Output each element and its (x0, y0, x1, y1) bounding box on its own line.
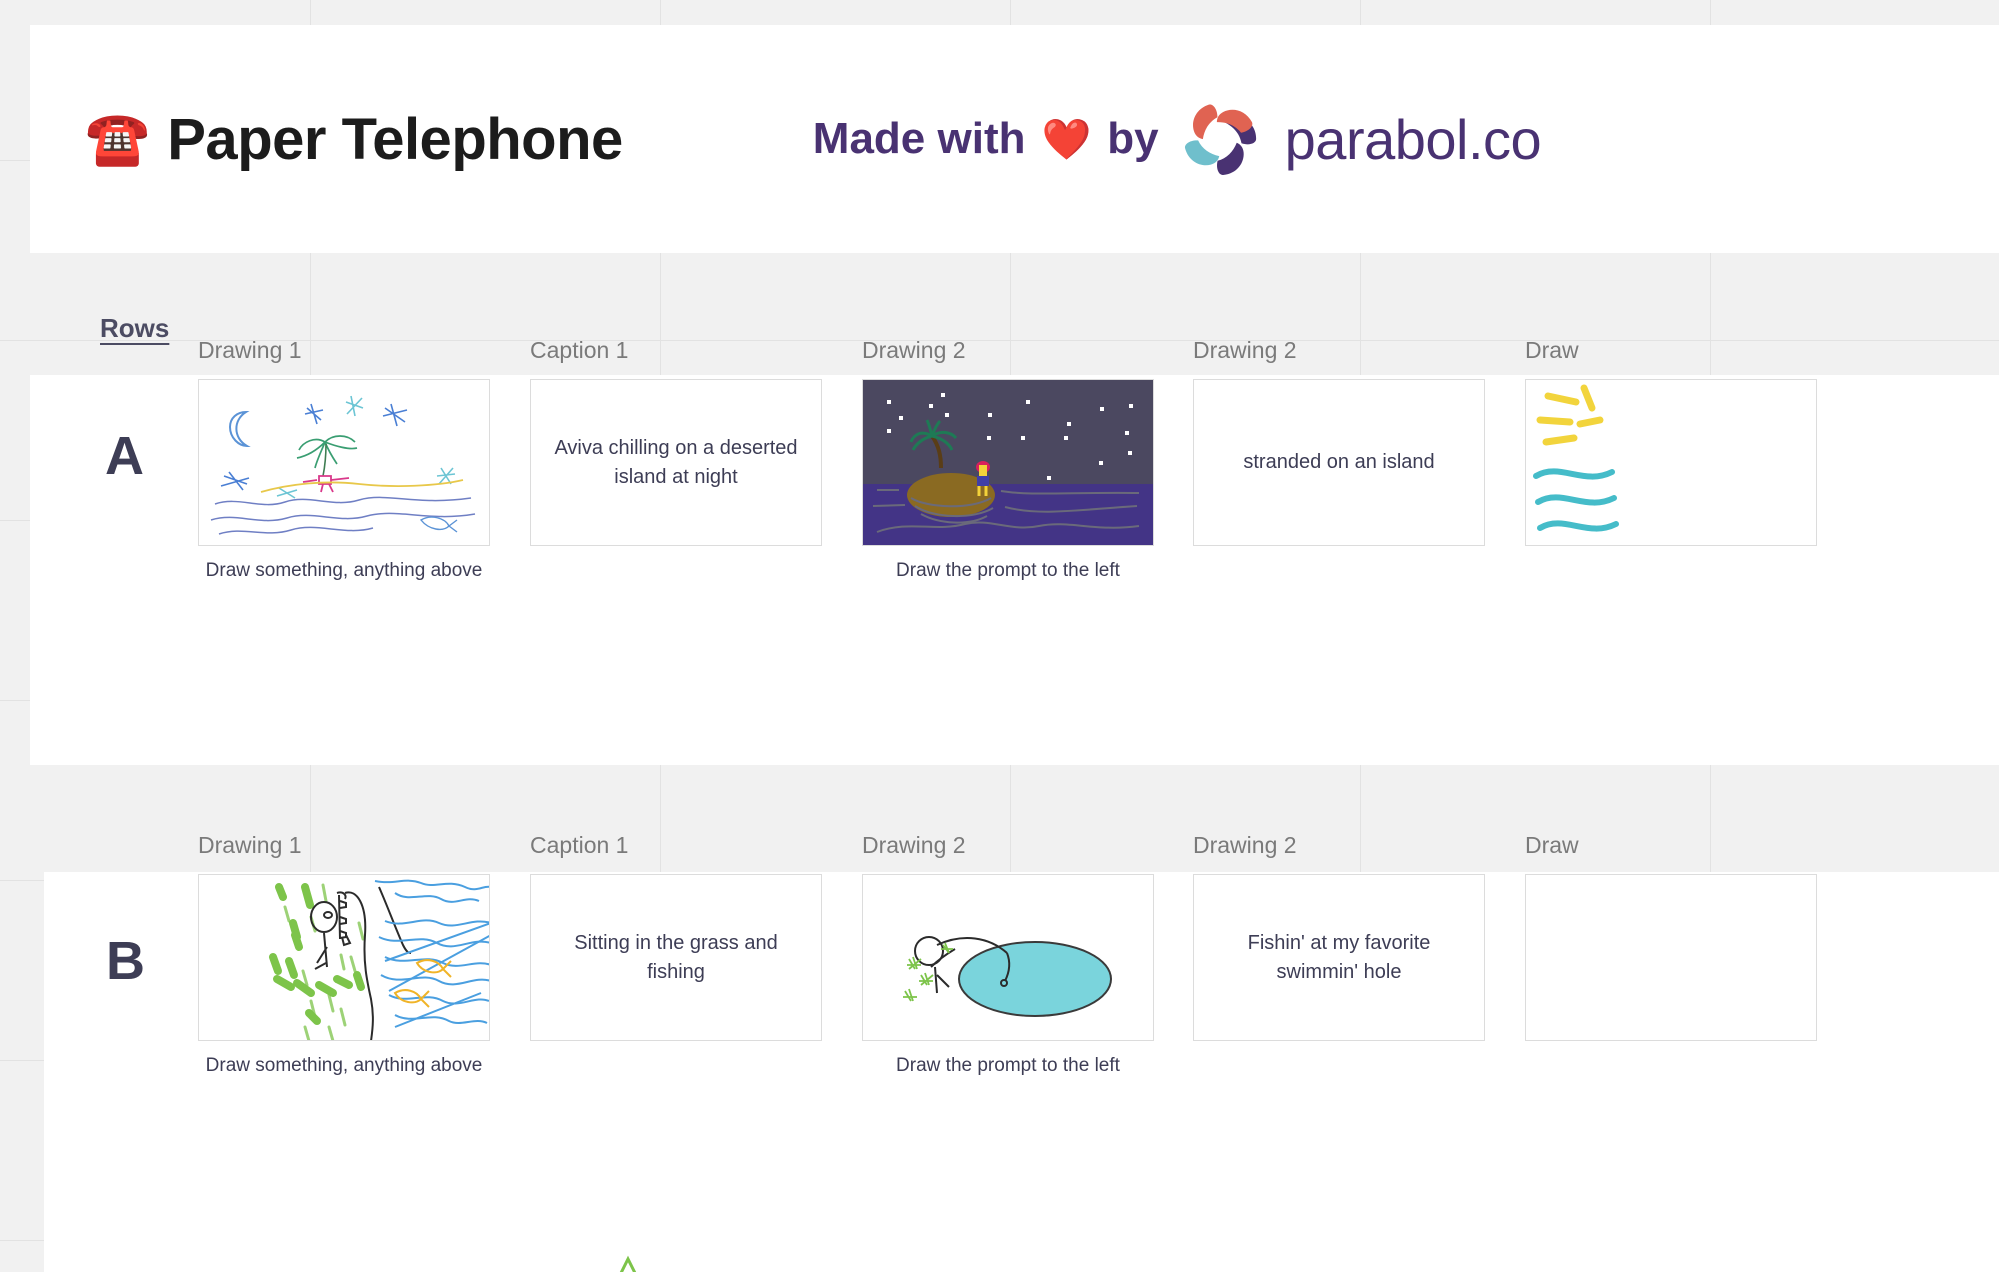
column-header-drawing1: Drawing 1 (198, 832, 490, 859)
caption-text: Aviva chilling on a deserted island at n… (549, 434, 803, 492)
cell-drawing2a-b[interactable]: Drawing 2 (862, 832, 1154, 1077)
app-header: ☎️ Paper Telephone Made with ❤️ by parab… (30, 25, 1999, 253)
night-beach-sketch[interactable] (198, 379, 490, 546)
column-header-caption1: Caption 1 (530, 832, 822, 859)
heart-icon: ❤️ (1041, 116, 1091, 163)
made-with-post-text: by (1107, 114, 1158, 164)
table-row: A Drawing 1 (30, 375, 1999, 765)
telephone-icon: ☎️ (85, 113, 149, 165)
cell-footer-hint: Draw something, anything above (198, 1055, 490, 1077)
cell-drawing2b-b[interactable]: Drawing 2 Fishin' at my favorite swimmin… (1193, 832, 1485, 1055)
column-header-drawing3: Draw (1525, 337, 1817, 364)
cell-footer-hint: Draw the prompt to the left (862, 1055, 1154, 1077)
cell-drawing1-b[interactable]: Drawing 1 (198, 832, 490, 1077)
column-header-drawing2b: Drawing 2 (1193, 337, 1485, 364)
brand-name[interactable]: parabol.co (1285, 107, 1542, 172)
column-header-drawing2a: Drawing 2 (862, 337, 1154, 364)
cell-caption1-b[interactable]: Caption 1 Sitting in the grass and fishi… (530, 832, 822, 1055)
row-label-b: B (106, 930, 145, 992)
caption-text: stranded on an island (1243, 448, 1434, 477)
made-with-pre-text: Made with (813, 114, 1026, 164)
sun-and-waves-sketch[interactable] (1525, 379, 1817, 546)
grass-and-water-fishing-sketch[interactable] (198, 874, 490, 1041)
caption-cell[interactable]: stranded on an island (1193, 379, 1485, 546)
cell-drawing2a-a[interactable]: Drawing 2 (862, 337, 1154, 582)
cell-footer-hint: Draw something, anything above (198, 560, 490, 582)
cell-drawing1-a[interactable]: Drawing 1 (198, 337, 490, 582)
cell-caption1-a[interactable]: Caption 1 Aviva chilling on a deserted i… (530, 337, 822, 560)
empty-canvas[interactable] (1525, 874, 1817, 1041)
column-header-drawing3: Draw (1525, 832, 1817, 859)
app-title-text: Paper Telephone (167, 106, 623, 173)
rows-link[interactable]: Rows (100, 313, 169, 344)
caption-cell[interactable]: Sitting in the grass and fishing (530, 874, 822, 1041)
night-island-painting[interactable] (862, 379, 1154, 546)
paper-telephone-page: ☎️ Paper Telephone Made with ❤️ by parab… (0, 0, 1999, 1272)
caption-cell[interactable]: Fishin' at my favorite swimmin' hole (1193, 874, 1485, 1041)
column-header-caption1: Caption 1 (530, 337, 822, 364)
pond-fishing-sketch[interactable] (862, 874, 1154, 1041)
parabol-logo-icon[interactable] (1177, 96, 1263, 182)
column-header-drawing2b: Drawing 2 (1193, 832, 1485, 859)
cell-drawing3-a[interactable]: Draw (1525, 337, 1817, 560)
next-row-partial-stroke (612, 1255, 652, 1272)
app-title: ☎️ Paper Telephone (85, 106, 623, 173)
column-header-drawing1: Drawing 1 (198, 337, 490, 364)
cell-drawing2b-a[interactable]: Drawing 2 stranded on an island (1193, 337, 1485, 560)
table-row: B Drawing 1 (44, 872, 1999, 1272)
made-with-credit: Made with ❤️ by (813, 114, 1159, 164)
caption-text: Fishin' at my favorite swimmin' hole (1212, 929, 1466, 987)
caption-cell[interactable]: Aviva chilling on a deserted island at n… (530, 379, 822, 546)
caption-text: Sitting in the grass and fishing (549, 929, 803, 987)
cell-drawing3-b[interactable]: Draw (1525, 832, 1817, 1055)
cell-footer-hint: Draw the prompt to the left (862, 560, 1154, 582)
row-label-a: A (105, 425, 144, 487)
column-header-drawing2a: Drawing 2 (862, 832, 1154, 859)
